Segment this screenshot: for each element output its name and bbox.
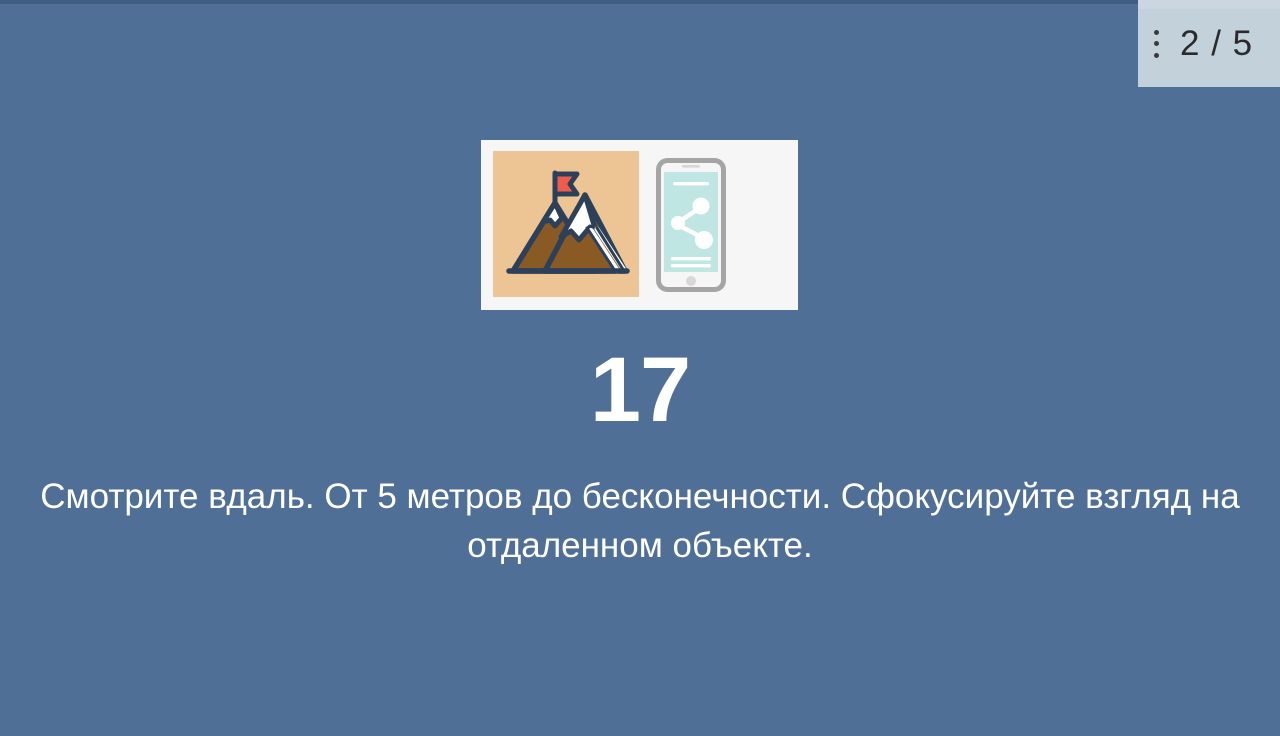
kebab-dot-top xyxy=(1154,30,1159,35)
kebab-dot-bottom xyxy=(1154,53,1159,58)
page-indicator-panel[interactable]: 2 / 5 xyxy=(1138,0,1280,91)
illustration-card xyxy=(481,140,798,310)
phone-share-icon xyxy=(656,158,726,292)
kebab-dot-middle xyxy=(1154,41,1159,46)
slide-screen: 2 / 5 xyxy=(0,0,1280,736)
top-divider xyxy=(0,0,1280,4)
kebab-menu-icon[interactable] xyxy=(1152,30,1160,58)
step-number: 17 xyxy=(0,344,1280,436)
panel-top-highlight xyxy=(1138,0,1280,9)
instruction-text: Смотрите вдаль. От 5 метров до бесконечн… xyxy=(28,472,1252,570)
page-counter-label: 2 / 5 xyxy=(1180,26,1253,61)
mountain-flag-icon xyxy=(493,151,639,297)
